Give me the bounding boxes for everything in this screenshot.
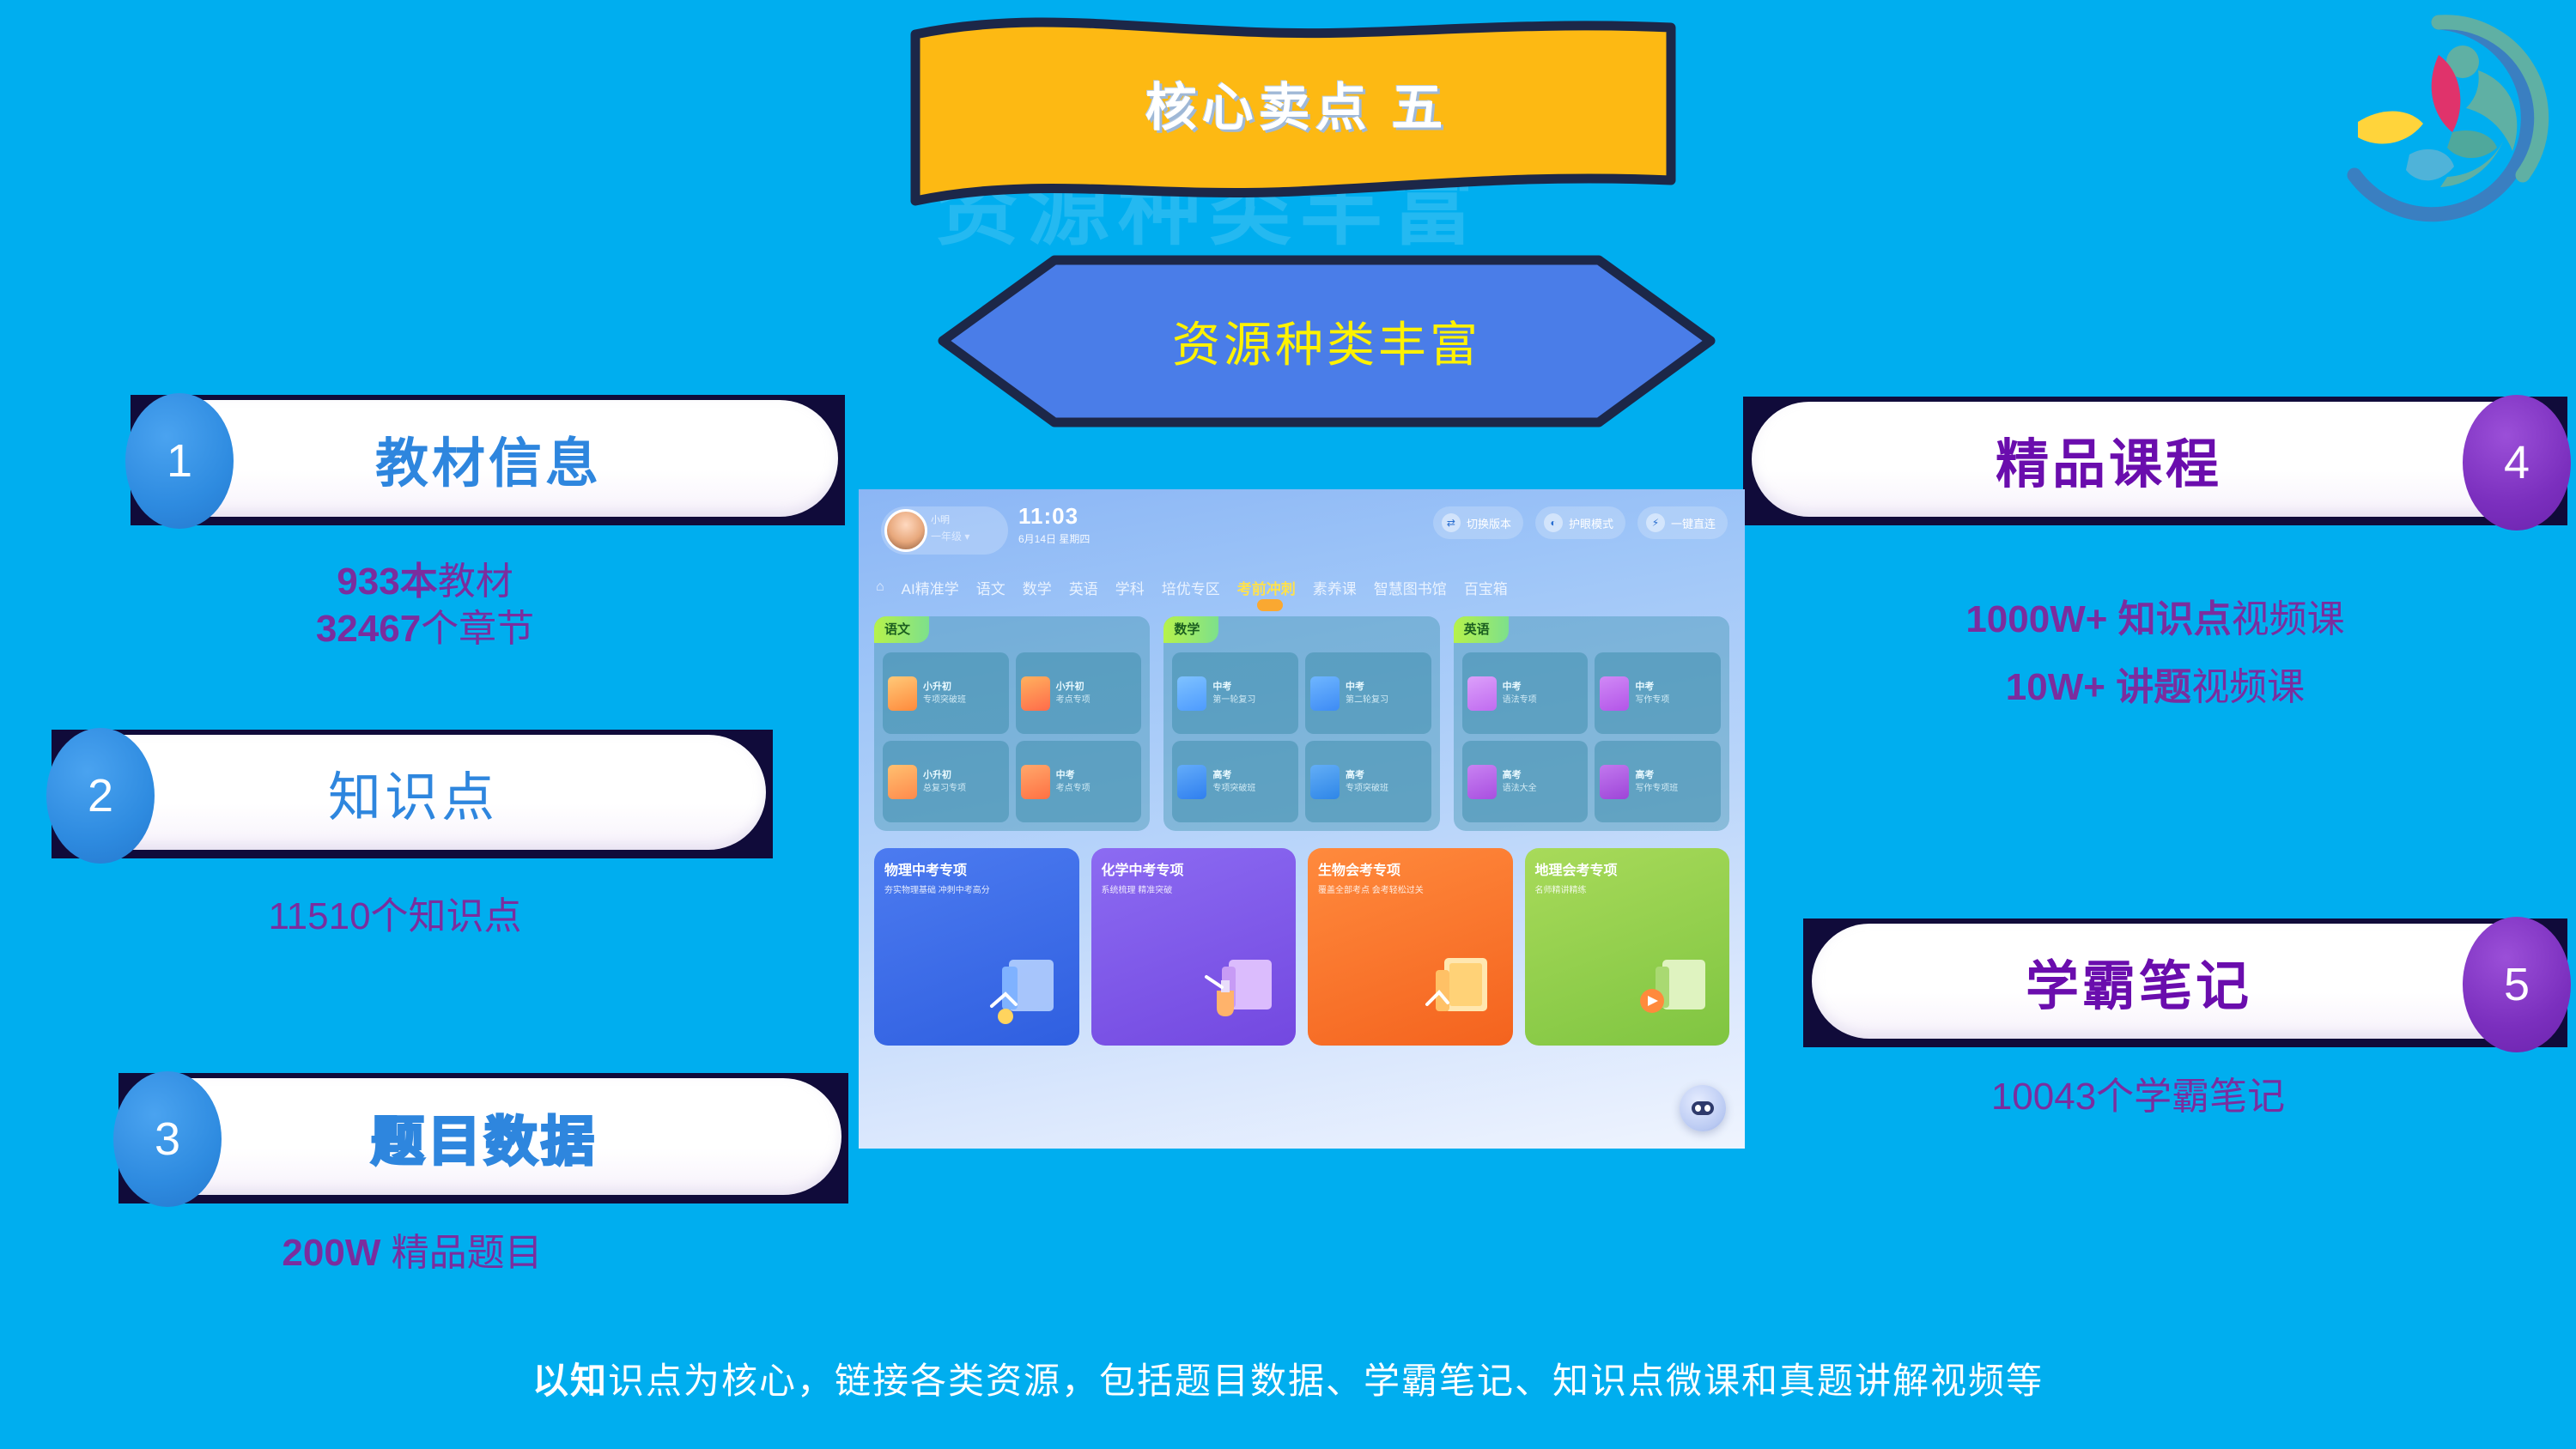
pill-body: 知识点	[60, 735, 766, 850]
one-key-connect-button[interactable]: ⚡ 一键直连	[1637, 506, 1728, 539]
pill-title: 知识点	[60, 735, 766, 850]
geography-illustration-icon	[1637, 951, 1716, 1034]
tile-text: 中考 考点专项	[1056, 769, 1091, 795]
banner-title: 核心卖点 五	[910, 17, 1683, 189]
caption-bold-prefix: 以知	[532, 1361, 608, 1401]
clock-date: 6月14日 星期四	[1018, 531, 1090, 546]
logo-petal-teal	[2447, 130, 2497, 158]
tile-text: 高考 专项突破班	[1346, 769, 1388, 795]
home-icon[interactable]: ⌂	[876, 579, 884, 595]
feature-sub-3: 200W 精品题目	[120, 1229, 704, 1276]
book-icon	[1021, 765, 1050, 799]
eye-icon: ◐	[1544, 513, 1563, 532]
tile-text: 中考 写作专项	[1635, 681, 1669, 706]
caption-rest: 识点为核心，链接各类资源，包括题目数据、学霸笔记、知识点微课和真题讲解视频等	[608, 1361, 2044, 1401]
subject-panels: 语文 小升初 专项突破班 小升初 考点专项	[874, 616, 1729, 831]
panel-tiles: 中考 语法专项 中考 写作专项 高考	[1462, 652, 1721, 822]
feature-pill-3[interactable]: 题目数据 3	[118, 1073, 848, 1203]
sub-4-line-1-bold: 1000W+ 知识点	[1965, 598, 2231, 640]
eye-protect-label: 护眼模式	[1569, 515, 1613, 531]
tile-text: 高考 写作专项班	[1635, 769, 1678, 795]
feature-sub-1: 933本教材 32467个章节	[137, 558, 713, 652]
book-icon	[1467, 765, 1497, 799]
pill-title: 题目数据	[127, 1078, 841, 1195]
book-icon	[1600, 676, 1629, 711]
user-name: 小明	[931, 512, 950, 526]
book-icon	[1310, 676, 1340, 711]
assistant-eyes-icon	[1692, 1101, 1714, 1115]
panel-tiles: 中考 第一轮复习 中考 第二轮复习 高考	[1172, 652, 1431, 822]
pill-body: 教材信息	[139, 400, 838, 517]
tile-text: 中考 第二轮复习	[1346, 681, 1388, 706]
app-header: 小明 一年级 ▾ 11:03 6月14日 星期四 ⇄ 切换版本 ◐ 护眼模式 ⚡…	[859, 489, 1745, 567]
subject-panel-chinese[interactable]: 语文 小升初 专项突破班 小升初 考点专项	[874, 616, 1150, 831]
chemistry-illustration-icon	[1203, 951, 1282, 1034]
feature-pill-4[interactable]: 精品课程 4	[1743, 397, 2567, 525]
course-card-geography[interactable]: 地理会考专项 名师精讲精练	[1525, 848, 1730, 1046]
app-screenshot: 小明 一年级 ▾ 11:03 6月14日 星期四 ⇄ 切换版本 ◐ 护眼模式 ⚡…	[859, 489, 1745, 1149]
switch-icon: ⇄	[1442, 513, 1461, 532]
assistant-icon[interactable]	[1680, 1085, 1726, 1131]
avatar	[884, 509, 927, 552]
feature-sub-2: 11510个知识点	[52, 893, 738, 940]
panel-tile[interactable]: 中考 第一轮复习	[1172, 652, 1298, 734]
nav-item-chinese[interactable]: 语文	[976, 577, 1005, 598]
physics-illustration-icon	[987, 951, 1066, 1034]
pill-badge-number: 5	[2463, 917, 2571, 1052]
logo-petal-yellow	[2358, 111, 2423, 143]
tile-text: 中考 第一轮复习	[1212, 681, 1255, 706]
panel-tab-label: 语文	[874, 616, 929, 643]
course-card-biology[interactable]: 生物会考专项 覆盖全部考点 会考轻松过关	[1308, 848, 1513, 1046]
tile-text: 小升初 考点专项	[1056, 681, 1091, 706]
pill-title: 教材信息	[139, 400, 838, 517]
nav-item-math[interactable]: 数学	[1023, 577, 1052, 598]
switch-version-button[interactable]: ⇄ 切换版本	[1433, 506, 1523, 539]
header-buttons: ⇄ 切换版本 ◐ 护眼模式 ⚡ 一键直连	[1433, 506, 1728, 539]
book-icon	[1021, 676, 1050, 711]
tile-text: 小升初 总复习专项	[923, 769, 966, 795]
card-subtitle: 系统梳理 精准突破	[1102, 882, 1286, 895]
book-icon	[888, 676, 917, 711]
pill-badge-number: 3	[113, 1071, 222, 1207]
switch-version-label: 切换版本	[1467, 515, 1511, 531]
feature-sub-4: 1000W+ 知识点视频课 10W+ 讲题视频课	[1743, 585, 2567, 721]
sub-4-line-2-bold: 10W+ 讲题	[2006, 666, 2191, 708]
header-ribbon-banner: 核心卖点 五	[910, 17, 1683, 223]
hexagon-callout: 资源种类丰富	[936, 253, 1717, 429]
brand-logo	[2310, 7, 2567, 230]
panel-tab-label: 数学	[1163, 616, 1218, 643]
nav-item-exam-sprint[interactable]: 考前冲刺	[1237, 577, 1296, 598]
hexagon-label: 资源种类丰富	[936, 253, 1717, 429]
feature-pill-2[interactable]: 知识点 2	[52, 730, 773, 858]
logo-petal-blue	[2406, 149, 2454, 180]
clock: 11:03 6月14日 星期四	[1018, 503, 1090, 546]
panel-tile[interactable]: 高考 专项突破班	[1172, 741, 1298, 822]
card-title: 生物会考专项	[1318, 858, 1503, 879]
panel-tile[interactable]: 小升初 总复习专项	[883, 741, 1009, 822]
feature-pill-1[interactable]: 教材信息 1	[131, 395, 845, 525]
panel-tile[interactable]: 中考 第二轮复习	[1305, 652, 1431, 734]
book-icon	[1177, 676, 1206, 711]
book-icon	[1177, 765, 1206, 799]
course-card-physics[interactable]: 物理中考专项 夯实物理基础 冲刺中考高分	[874, 848, 1079, 1046]
nav-item-english[interactable]: 英语	[1069, 577, 1098, 598]
nav-item-subjects[interactable]: 学科	[1115, 577, 1145, 598]
panel-tab-label: 英语	[1454, 616, 1509, 643]
book-icon	[888, 765, 917, 799]
pill-body: 学霸笔记	[1812, 924, 2561, 1039]
tile-text: 高考 专项突破班	[1212, 769, 1255, 795]
feature-sub-5: 10043个学霸笔记	[1769, 1073, 2507, 1120]
pill-title: 精品课程	[1752, 402, 2561, 517]
card-title: 化学中考专项	[1102, 858, 1286, 879]
feature-pill-5[interactable]: 学霸笔记 5	[1803, 919, 2567, 1047]
sub-1-line-2-reg: 个章节	[421, 608, 534, 650]
panel-tile[interactable]: 中考 考点专项	[1016, 741, 1142, 822]
tile-text: 中考 语法专项	[1503, 681, 1537, 706]
sub-3-reg: 精品题目	[392, 1232, 543, 1274]
nav-item-ai[interactable]: AI精准学	[902, 577, 959, 598]
subject-panel-math[interactable]: 数学 中考 第一轮复习 中考 第二轮复习	[1163, 616, 1439, 831]
panel-tile[interactable]: 小升初 专项突破班	[883, 652, 1009, 734]
nav-item-advanced[interactable]: 培优专区	[1162, 577, 1220, 598]
card-subtitle: 夯实物理基础 冲刺中考高分	[884, 882, 1069, 895]
nav-item-library[interactable]: 智慧图书馆	[1374, 577, 1447, 598]
sub-1-line-1-reg: 教材	[438, 561, 513, 603]
nav-item-toolbox[interactable]: 百宝箱	[1464, 577, 1508, 598]
pill-badge-number: 2	[46, 728, 155, 864]
user-chip[interactable]: 小明 一年级 ▾	[881, 506, 1008, 555]
panel-tile[interactable]: 高考 专项突破班	[1305, 741, 1431, 822]
clock-time: 11:03	[1018, 503, 1090, 530]
tile-text: 高考 语法大全	[1503, 769, 1537, 795]
sub-1-line-1-bold: 933本	[337, 561, 437, 603]
sub-2-line-1: 11510个知识点	[268, 895, 521, 937]
pill-title: 学霸笔记	[1812, 924, 2561, 1039]
panel-tile[interactable]: 中考 写作专项	[1595, 652, 1721, 734]
sub-4-line-1-reg: 视频课	[2232, 598, 2345, 640]
one-key-connect-label: 一键直连	[1671, 515, 1716, 531]
link-icon: ⚡	[1646, 513, 1665, 532]
panel-tile[interactable]: 高考 语法大全	[1462, 741, 1589, 822]
user-grade[interactable]: 一年级 ▾	[931, 529, 969, 543]
panel-tile[interactable]: 中考 语法专项	[1462, 652, 1589, 734]
special-course-cards: 物理中考专项 夯实物理基础 冲刺中考高分 化学中考专项 系统梳理 精准突破	[874, 848, 1729, 1046]
biology-illustration-icon	[1420, 951, 1499, 1034]
bottom-caption: 以知识点为核心，链接各类资源，包括题目数据、学霸笔记、知识点微课和真题讲解视频等	[0, 1352, 2576, 1404]
tile-text: 小升初 专项突破班	[923, 681, 966, 706]
book-icon	[1310, 765, 1340, 799]
pill-badge-number: 1	[125, 393, 234, 529]
subject-panel-english[interactable]: 英语 中考 语法专项 中考 写作专项	[1454, 616, 1729, 831]
app-navbar: ⌂ AI精准学 语文 数学 英语 学科 培优专区 考前冲刺 素养课 智慧图书馆 …	[859, 568, 1745, 606]
book-icon	[1467, 676, 1497, 711]
slide-canvas: 资源种类丰富 核心卖点 五 资源种类丰富	[0, 0, 2576, 1449]
eye-protect-button[interactable]: ◐ 护眼模式	[1535, 506, 1625, 539]
sub-3-bold: 200W	[282, 1232, 391, 1274]
book-icon	[1600, 765, 1629, 799]
sub-4-line-2-reg: 视频课	[2191, 666, 2305, 708]
card-title: 物理中考专项	[884, 858, 1069, 879]
sub-1-line-2-bold: 32467	[316, 608, 421, 650]
nav-item-quality[interactable]: 素养课	[1313, 577, 1357, 598]
pill-body: 精品课程	[1752, 402, 2561, 517]
card-title: 地理会考专项	[1535, 858, 1720, 879]
sub-5-line-1: 10043个学霸笔记	[1991, 1076, 2285, 1118]
course-card-chemistry[interactable]: 化学中考专项 系统梳理 精准突破	[1091, 848, 1297, 1046]
card-subtitle: 覆盖全部考点 会考轻松过关	[1318, 882, 1503, 895]
panel-tiles: 小升初 专项突破班 小升初 考点专项 小升初	[883, 652, 1141, 822]
panel-tile[interactable]: 高考 写作专项班	[1595, 741, 1721, 822]
pill-badge-number: 4	[2463, 395, 2571, 530]
panel-tile[interactable]: 小升初 考点专项	[1016, 652, 1142, 734]
pill-body: 题目数据	[127, 1078, 841, 1195]
card-subtitle: 名师精讲精练	[1535, 882, 1720, 895]
